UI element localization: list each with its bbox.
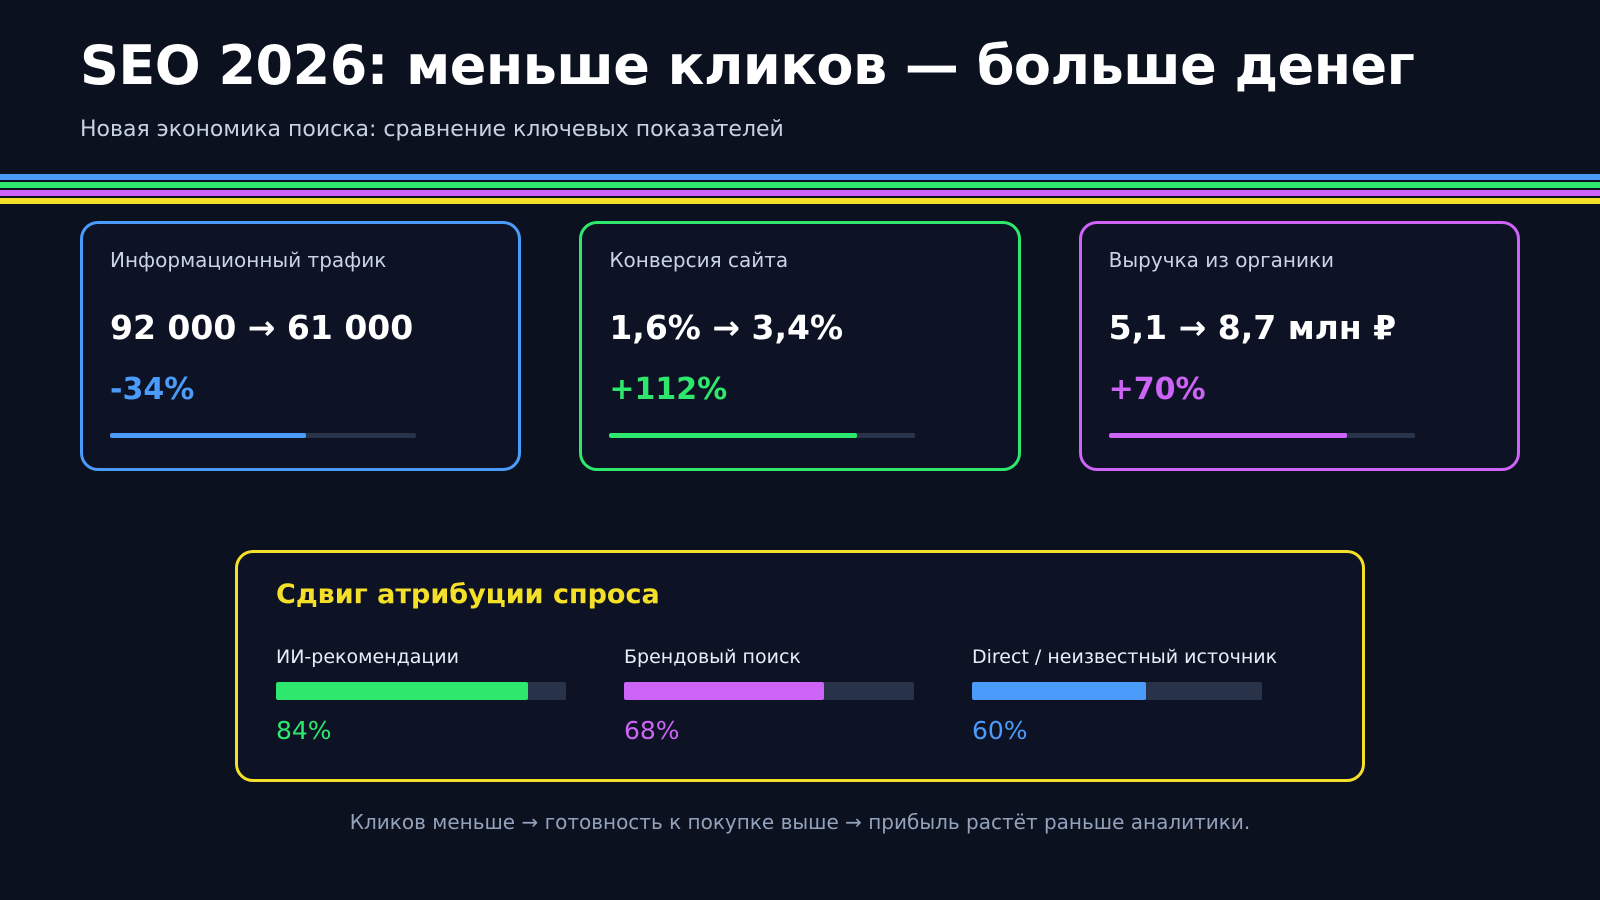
metric-card-bar-track xyxy=(1109,433,1415,438)
attribution-item-label: ИИ-рекомендации xyxy=(276,646,566,668)
metric-card-bar-fill xyxy=(609,433,857,438)
metric-card-value: 92 000 → 61 000 xyxy=(110,308,491,347)
attribution-panel: Сдвиг атрибуции спроса ИИ-рекомендации 8… xyxy=(235,550,1365,782)
attribution-bar-track xyxy=(276,682,566,700)
attribution-bar-fill xyxy=(972,682,1146,700)
metric-card-label: Информационный трафик xyxy=(110,248,491,272)
metric-cards-row: Информационный трафик 92 000 → 61 000 -3… xyxy=(0,204,1600,471)
attribution-item-brand: Брендовый поиск 68% xyxy=(624,646,914,745)
attribution-item-percent: 84% xyxy=(276,716,566,745)
attribution-bar-track xyxy=(972,682,1262,700)
attribution-items: ИИ-рекомендации 84% Брендовый поиск 68% … xyxy=(276,646,1324,745)
attribution-bar-fill xyxy=(624,682,824,700)
metric-card-delta: -34% xyxy=(110,372,491,407)
metric-card-value: 5,1 → 8,7 млн ₽ xyxy=(1109,308,1490,347)
attribution-item-ai: ИИ-рекомендации 84% xyxy=(276,646,566,745)
attribution-bar-fill xyxy=(276,682,528,700)
page-header: SEO 2026: меньше кликов — больше денег Н… xyxy=(0,0,1600,164)
metric-card-label: Конверсия сайта xyxy=(609,248,990,272)
metric-card-delta: +70% xyxy=(1109,372,1490,407)
stripe-yellow xyxy=(0,198,1600,204)
attribution-item-direct: Direct / неизвестный источник 60% xyxy=(972,646,1262,745)
metric-card-bar-track xyxy=(110,433,416,438)
metric-card-revenue: Выручка из органики 5,1 → 8,7 млн ₽ +70% xyxy=(1079,221,1520,471)
metric-card-value: 1,6% → 3,4% xyxy=(609,308,990,347)
attribution-bar-track xyxy=(624,682,914,700)
metric-card-label: Выручка из органики xyxy=(1109,248,1490,272)
metric-card-traffic: Информационный трафик 92 000 → 61 000 -3… xyxy=(80,221,521,471)
attribution-item-label: Direct / неизвестный источник xyxy=(972,646,1262,668)
attribution-item-percent: 68% xyxy=(624,716,914,745)
metric-card-delta: +112% xyxy=(609,372,990,407)
attribution-panel-wrap: Сдвиг атрибуции спроса ИИ-рекомендации 8… xyxy=(0,471,1600,782)
attribution-item-label: Брендовый поиск xyxy=(624,646,914,668)
accent-stripes xyxy=(0,164,1600,204)
attribution-panel-title: Сдвиг атрибуции спроса xyxy=(276,579,1324,610)
metric-card-conversion: Конверсия сайта 1,6% → 3,4% +112% xyxy=(579,221,1020,471)
page-title: SEO 2026: меньше кликов — больше денег xyxy=(80,36,1520,95)
metric-card-bar-fill xyxy=(1109,433,1348,438)
metric-card-bar-track xyxy=(609,433,915,438)
metric-card-bar-fill xyxy=(110,433,306,438)
footer-note: Кликов меньше → готовность к покупке выш… xyxy=(0,810,1600,834)
attribution-item-percent: 60% xyxy=(972,716,1262,745)
page-subtitle: Новая экономика поиска: сравнение ключев… xyxy=(80,117,1520,142)
